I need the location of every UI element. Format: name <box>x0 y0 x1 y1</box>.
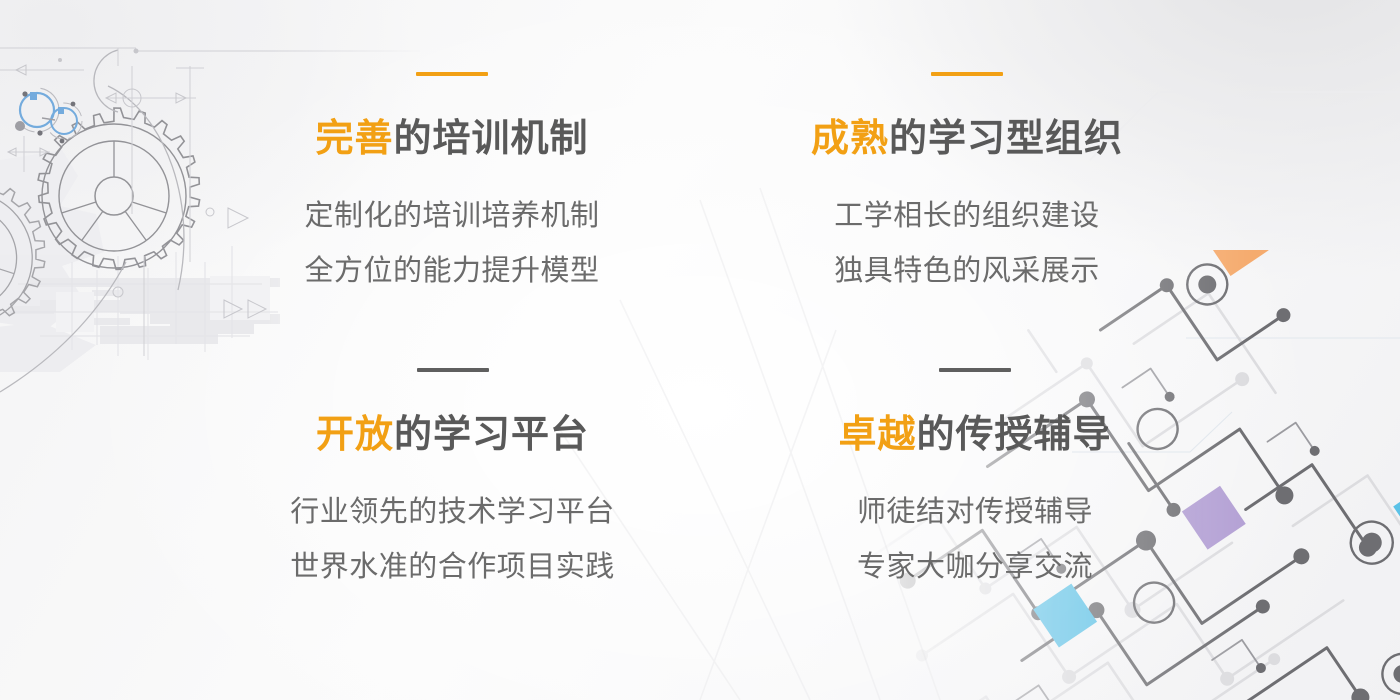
panel-heading-0: 完善的培训机制 <box>252 120 652 158</box>
panel-divider-0 <box>416 72 488 76</box>
panel-line-0-0: 定制化的培训培养机制 <box>252 202 652 231</box>
panel-heading-rest-1: 的学习型组织 <box>889 118 1123 160</box>
panel-divider-2 <box>417 368 489 372</box>
panel-line-2-1: 世界水准的合作项目实践 <box>245 553 660 582</box>
panel-heading-2: 开放的学习平台 <box>245 416 660 454</box>
panel-heading-highlight-3: 卓越 <box>838 414 916 456</box>
panel-line-3-0: 师徒结对传授辅导 <box>780 498 1170 527</box>
panel-line-2-0: 行业领先的技术学习平台 <box>245 498 660 527</box>
panel-heading-highlight-0: 完善 <box>315 118 393 160</box>
panel-line-1-0: 工学相长的组织建设 <box>752 202 1182 231</box>
panel-divider-1 <box>931 72 1003 76</box>
feature-panel-3: 卓越的传授辅导 师徒结对传授辅导 专家大咖分享交流 <box>780 368 1170 582</box>
panel-heading-3: 卓越的传授辅导 <box>780 416 1170 454</box>
feature-panel-0: 完善的培训机制 定制化的培训培养机制 全方位的能力提升模型 <box>252 72 652 286</box>
panel-line-1-1: 独具特色的风采展示 <box>752 257 1182 286</box>
feature-panel-2: 开放的学习平台 行业领先的技术学习平台 世界水准的合作项目实践 <box>245 368 660 582</box>
panel-heading-rest-2: 的学习平台 <box>394 414 589 456</box>
panel-heading-highlight-2: 开放 <box>316 414 394 456</box>
feature-panel-1: 成熟的学习型组织 工学相长的组织建设 独具特色的风采展示 <box>752 72 1182 286</box>
promo-banner: 完善的培训机制 定制化的培训培养机制 全方位的能力提升模型 成熟的学习型组织 工… <box>0 0 1400 700</box>
panel-divider-3 <box>939 368 1011 372</box>
panel-heading-highlight-1: 成熟 <box>811 118 889 160</box>
panel-line-0-1: 全方位的能力提升模型 <box>252 257 652 286</box>
panel-heading-1: 成熟的学习型组织 <box>752 120 1182 158</box>
panel-line-3-1: 专家大咖分享交流 <box>780 553 1170 582</box>
panel-heading-rest-3: 的传授辅导 <box>917 414 1112 456</box>
panel-heading-rest-0: 的培训机制 <box>394 118 589 160</box>
